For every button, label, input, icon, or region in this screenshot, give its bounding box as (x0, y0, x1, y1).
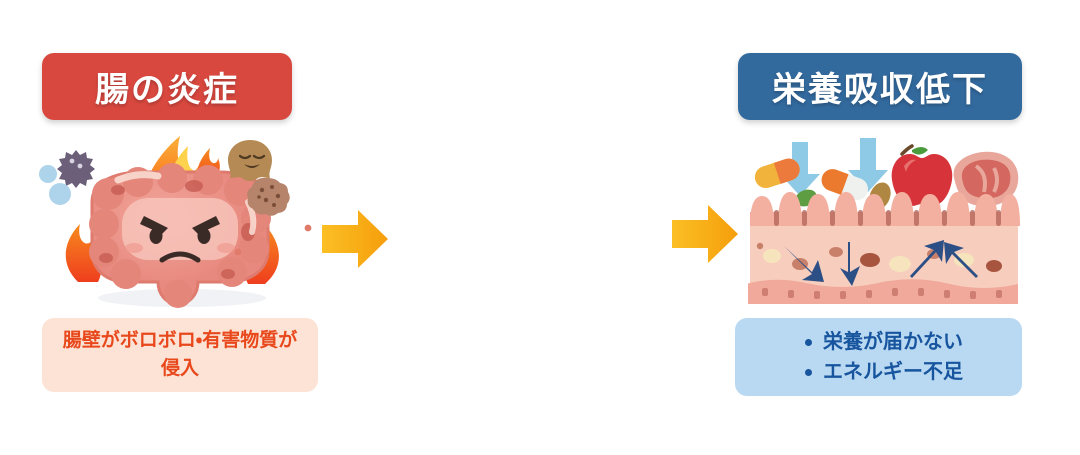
germ-brown-icon (228, 140, 272, 181)
step-1-badge-label: 腸の炎症 (95, 62, 239, 111)
bubble-icon (39, 165, 57, 183)
germ-dot-icon (305, 225, 312, 232)
infographic-canvas: 腸の炎症 (0, 0, 1080, 455)
germ-dot-icon (235, 249, 242, 256)
step-panel-2: 栄養吸収低下 (360, 0, 670, 455)
illustration-inflamed-intestine (22, 132, 332, 310)
germ-purple-icon (57, 150, 95, 188)
step-1-caption: 腸壁がボロボロ・有害物質が 侵入 (42, 318, 318, 392)
step-1-caption-line-2: 侵入 (161, 355, 199, 383)
step-1-caption-line-1: 腸壁がボロボロ・有害物質が (63, 327, 297, 355)
intestine-character (89, 163, 271, 308)
bubble-icon (49, 183, 71, 205)
step-panel-3: 代謝・解毒低下 (715, 0, 1080, 455)
step-panel-1: 腸の炎症 (0, 0, 350, 455)
step-1-badge: 腸の炎症 (42, 53, 292, 120)
